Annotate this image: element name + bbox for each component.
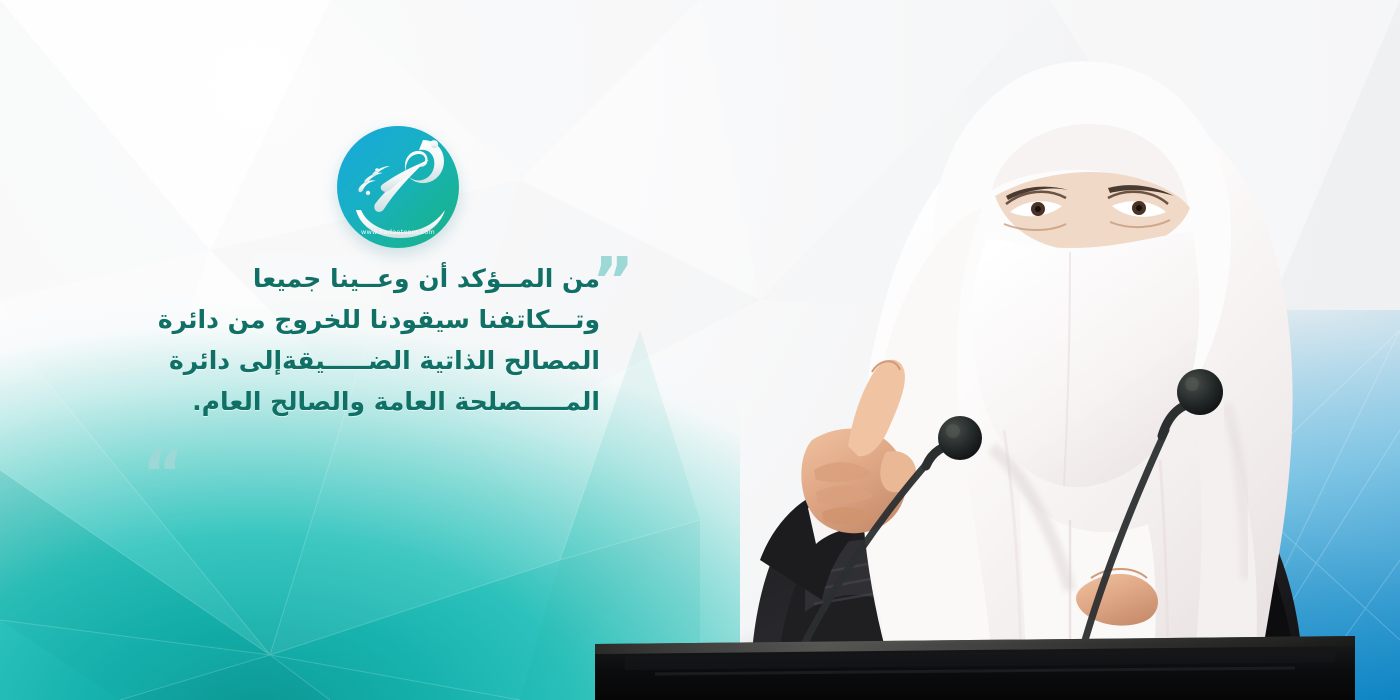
poster-canvas: www.hudaetoom.com ” من المــؤكد أن وعــي… bbox=[0, 0, 1400, 700]
quote-line-4: المـــــصلحة العامة والصالح العام. bbox=[150, 381, 600, 422]
podium bbox=[595, 622, 1355, 700]
quote-line-2: وتـــكاتفنا سيقودنا للخروج من دائرة bbox=[150, 299, 600, 340]
quote-text-block: من المــؤكد أن وعــينا جميعا وتـــكاتفنا… bbox=[150, 258, 600, 422]
logo-url-text: www.hudaetoom.com bbox=[337, 228, 459, 236]
huda-logo[interactable]: www.hudaetoom.com bbox=[337, 126, 459, 248]
quote-line-1: من المــؤكد أن وعــينا جميعا bbox=[150, 258, 600, 299]
speaker-photo bbox=[600, 0, 1400, 700]
quote-line-3: المصالح الذاتية الضـــــيقةإلى دائرة bbox=[150, 340, 600, 381]
quote-mark-close: “ bbox=[142, 443, 184, 507]
